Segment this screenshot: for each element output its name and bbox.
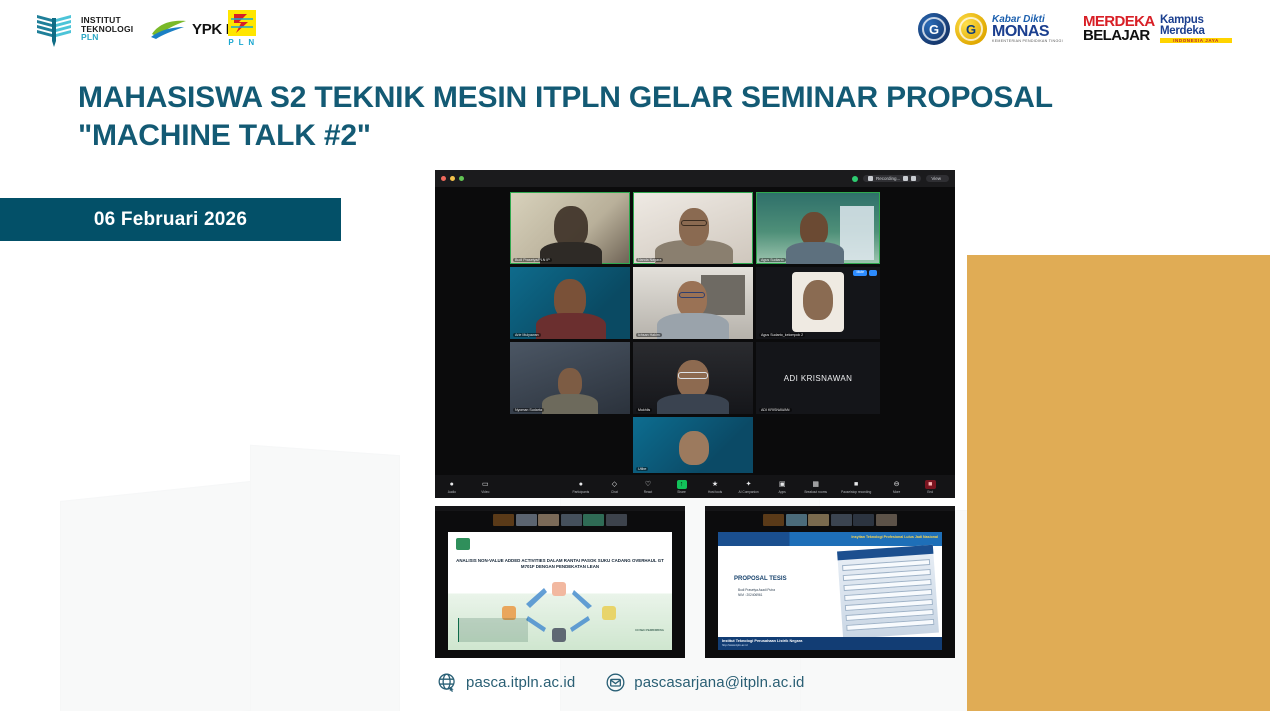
participant-tile[interactable]: Nyoman Sudarta bbox=[510, 342, 630, 414]
maximize-icon[interactable] bbox=[459, 176, 464, 181]
participant-name: Nyoman Sudarta bbox=[513, 408, 544, 412]
participants-icon: ● bbox=[575, 480, 586, 489]
spotlight-name: ADI KRISNAWAN bbox=[784, 374, 853, 383]
toolbar-label: Pause/stop recording bbox=[841, 490, 871, 494]
seal-icon-1: G bbox=[918, 13, 950, 45]
toolbar-label: Host tools bbox=[708, 490, 722, 494]
recording-active-icon bbox=[852, 176, 858, 182]
email-contact[interactable]: pascasarjana@itpln.ac.id bbox=[605, 672, 804, 693]
toolbar-audio-button[interactable]: ● Audio bbox=[435, 480, 469, 494]
participant-name: Budi Prasetya/PLN IP bbox=[513, 258, 552, 262]
participant-tile[interactable]: Budi Prasetya/PLN IP bbox=[510, 192, 630, 264]
slide-advisor-heading: DOSEN PEMBIMBING bbox=[635, 628, 664, 632]
participant-tile[interactable]: Utibe bbox=[633, 417, 753, 473]
toolbar-label: Apps bbox=[779, 490, 786, 494]
share-screen-icon: ↑ bbox=[677, 480, 687, 489]
apps-icon: ▣ bbox=[777, 480, 788, 489]
monas-sub: KEMENTERIAN PENDIDIKAN TINGGI bbox=[992, 39, 1078, 43]
merdeka-belajar-logo: MERDEKA BELAJAR bbox=[1083, 15, 1155, 43]
slide-screenshot-right: Insyitan Teknologi Profesional Lulus Jad… bbox=[705, 506, 955, 658]
participant-tile-spotlight[interactable]: ADI KRISNAWAN ADI KRISNAWAN bbox=[756, 342, 880, 414]
toolbar-react-button[interactable]: ♡ React bbox=[631, 480, 665, 494]
participant-grid: Budi Prasetya/PLN IP Nanda Nagara Agus S… bbox=[435, 187, 955, 475]
toolbar-recording-button[interactable]: ■ Pause/stop recording bbox=[832, 480, 879, 494]
toolbar-label: AI Companion bbox=[739, 490, 759, 494]
gold-accent-block bbox=[967, 255, 1270, 711]
itpln-logo: INSTITUT TEKNOLOGI PLN bbox=[33, 8, 133, 50]
zoom-meeting-window: Recording... View Budi Prasetya/PLN IP bbox=[435, 170, 955, 498]
toolbar-label: Audio bbox=[448, 490, 456, 494]
kampus-sub: INDONESIA JAYA bbox=[1160, 38, 1232, 43]
seal-letter-1: G bbox=[918, 13, 950, 45]
participant-tile[interactable]: Arie Mulyawan bbox=[510, 267, 630, 339]
sparkle-icon: ✦ bbox=[743, 480, 754, 489]
photo-collage: Recording... View Budi Prasetya/PLN IP bbox=[435, 170, 955, 658]
filmstrip-thumbnails bbox=[763, 514, 897, 526]
partner-logos: G G Kabar Dikti MONAS KEMENTERIAN PENDID… bbox=[918, 8, 1232, 50]
ypk-swoosh-icon bbox=[150, 18, 188, 40]
globe-icon bbox=[437, 672, 458, 693]
participant-tile[interactable]: Agus Sudiarto bbox=[756, 192, 880, 264]
toolbar-breakout-rooms-button[interactable]: ▦ Breakout rooms bbox=[799, 480, 833, 494]
slide-canvas-left: ANALISIS NON-VALUE ADDED ACTIVITIES DALA… bbox=[448, 532, 672, 650]
toolbar-share-button[interactable]: ↑ Share bbox=[665, 480, 699, 494]
toolbar-label: Video bbox=[481, 490, 489, 494]
participant-name: Ichsan Hakim bbox=[636, 333, 662, 337]
toolbar-label: Breakout rooms bbox=[804, 490, 827, 494]
stop-icon bbox=[911, 176, 916, 181]
participant-tile[interactable]: Nanda Nagara bbox=[633, 192, 753, 264]
itpln-book-logo-icon bbox=[33, 9, 75, 49]
participant-name: Mukhlis bbox=[636, 408, 652, 412]
monas-main: MONAS bbox=[992, 25, 1078, 40]
merdeka-line2: BELAJAR bbox=[1083, 29, 1155, 43]
website-text: pasca.itpln.ac.id bbox=[466, 674, 575, 691]
pln-label: P L N bbox=[228, 38, 256, 47]
participant-name: Arie Mulyawan bbox=[513, 333, 541, 337]
date-badge: 06 Februari 2026 bbox=[0, 198, 341, 241]
participant-name: Agus Sudarto_kelompok 2 bbox=[759, 333, 805, 337]
breakout-rooms-icon: ▦ bbox=[810, 480, 821, 489]
toolbar-apps-button[interactable]: ▣ Apps bbox=[765, 480, 799, 494]
minimize-icon[interactable] bbox=[450, 176, 455, 181]
more-icon: ⊖ bbox=[891, 480, 902, 489]
kampus-line2: Merdeka bbox=[1160, 26, 1232, 37]
view-label: View bbox=[931, 176, 941, 181]
toolbar-more-button[interactable]: ⊖ More bbox=[880, 480, 914, 494]
toolbar-host-tools-button[interactable]: ★ Host tools bbox=[698, 480, 732, 494]
toolbar-label: React bbox=[644, 490, 652, 494]
participant-tile[interactable]: Mute Agus Sudarto_kelompok 2 bbox=[756, 267, 880, 339]
slide-screenshot-left: ANALISIS NON-VALUE ADDED ACTIVITIES DALA… bbox=[435, 506, 685, 658]
slide-nim: NIM : 202406961 bbox=[738, 593, 775, 598]
building-photo bbox=[837, 545, 939, 639]
participant-name: Nanda Nagara bbox=[636, 258, 663, 262]
toolbar-label: Chat bbox=[611, 490, 618, 494]
pause-icon bbox=[903, 176, 908, 181]
toolbar-chat-button[interactable]: ◇ Chat bbox=[598, 480, 632, 494]
recording-chip[interactable]: Recording... bbox=[863, 175, 921, 182]
camera-icon: ▭ bbox=[480, 480, 491, 489]
participant-name: ADI KRISNAWAN bbox=[759, 408, 792, 412]
mute-badge[interactable]: Mute bbox=[853, 270, 867, 276]
contact-footer: pasca.itpln.ac.id pascasarjana@itpln.ac.… bbox=[437, 672, 805, 693]
video-badge-icon[interactable] bbox=[869, 270, 877, 276]
kabar-dikti-monas-logo: Kabar Dikti MONAS KEMENTERIAN PENDIDIKAN… bbox=[992, 15, 1078, 44]
shield-icon: ★ bbox=[710, 480, 721, 489]
slide-note-box bbox=[458, 618, 528, 642]
toolbar-ai-companion-button[interactable]: ✦ AI Companion bbox=[732, 480, 766, 494]
view-button[interactable]: View bbox=[926, 175, 949, 182]
toolbar-label: More bbox=[893, 490, 900, 494]
itpln-line3: PLN bbox=[81, 33, 133, 42]
toolbar-label: End bbox=[927, 490, 933, 494]
slide-canvas-right: Insyitan Teknologi Profesional Lulus Jad… bbox=[718, 532, 942, 650]
toolbar-label: Share bbox=[677, 490, 686, 494]
toolbar-participants-button[interactable]: ● Participants bbox=[564, 480, 598, 494]
toolbar-label: Participants bbox=[573, 490, 590, 494]
record-stop-icon bbox=[868, 176, 873, 181]
window-traffic-lights[interactable] bbox=[441, 176, 464, 181]
chat-icon: ◇ bbox=[609, 480, 620, 489]
slide-heading-right: PROPOSAL TESIS bbox=[734, 576, 787, 582]
toolbar-video-button[interactable]: ▭ Video bbox=[469, 480, 503, 494]
participant-tile[interactable]: Mukhlis bbox=[633, 342, 753, 414]
email-text: pascasarjana@itpln.ac.id bbox=[634, 674, 804, 691]
recording-label: Recording... bbox=[876, 176, 900, 181]
page-title: MAHASISWA S2 TEKNIK MESIN ITPLN GELAR SE… bbox=[78, 79, 1078, 156]
heart-icon: ♡ bbox=[642, 480, 653, 489]
participant-name: Agus Sudiarto bbox=[759, 258, 786, 262]
seal-icon-2: G bbox=[955, 13, 987, 45]
record-icon: ■ bbox=[851, 480, 862, 489]
slide-banner: Insyitan Teknologi Profesional Lulus Jad… bbox=[718, 532, 942, 546]
header-logo-bar: INSTITUT TEKNOLOGI PLN YPK PLN P L N G bbox=[0, 0, 1270, 58]
close-icon[interactable] bbox=[441, 176, 446, 181]
kampus-merdeka-logo: Kampus Merdeka INDONESIA JAYA bbox=[1160, 15, 1232, 43]
slide-footer-line2: http://www.itpln.ac.id bbox=[718, 643, 942, 647]
end-call-icon: ■ bbox=[925, 480, 936, 489]
seal-letter-2: G bbox=[955, 13, 987, 45]
envelope-icon bbox=[605, 672, 626, 693]
zoom-toolbar: ● Audio ▭ Video ● Participants ◇ Chat ♡ … bbox=[435, 475, 955, 498]
participant-tile[interactable]: Ichsan Hakim bbox=[633, 267, 753, 339]
zoom-titlebar: Recording... View bbox=[435, 170, 955, 187]
microphone-icon: ● bbox=[446, 480, 457, 489]
pln-lightning-icon bbox=[228, 10, 256, 36]
toolbar-end-button[interactable]: ■ End bbox=[913, 480, 947, 494]
participant-name: Utibe bbox=[636, 467, 648, 471]
slide-banner-text: Insyitan Teknologi Profesional Lulus Jad… bbox=[851, 535, 938, 539]
pln-logo: P L N bbox=[228, 10, 256, 47]
website-contact[interactable]: pasca.itpln.ac.id bbox=[437, 672, 575, 693]
filmstrip-thumbnails bbox=[493, 514, 627, 526]
slide-footer-right: Institut Teknologi Perusahaan Listrik Ne… bbox=[718, 637, 942, 650]
